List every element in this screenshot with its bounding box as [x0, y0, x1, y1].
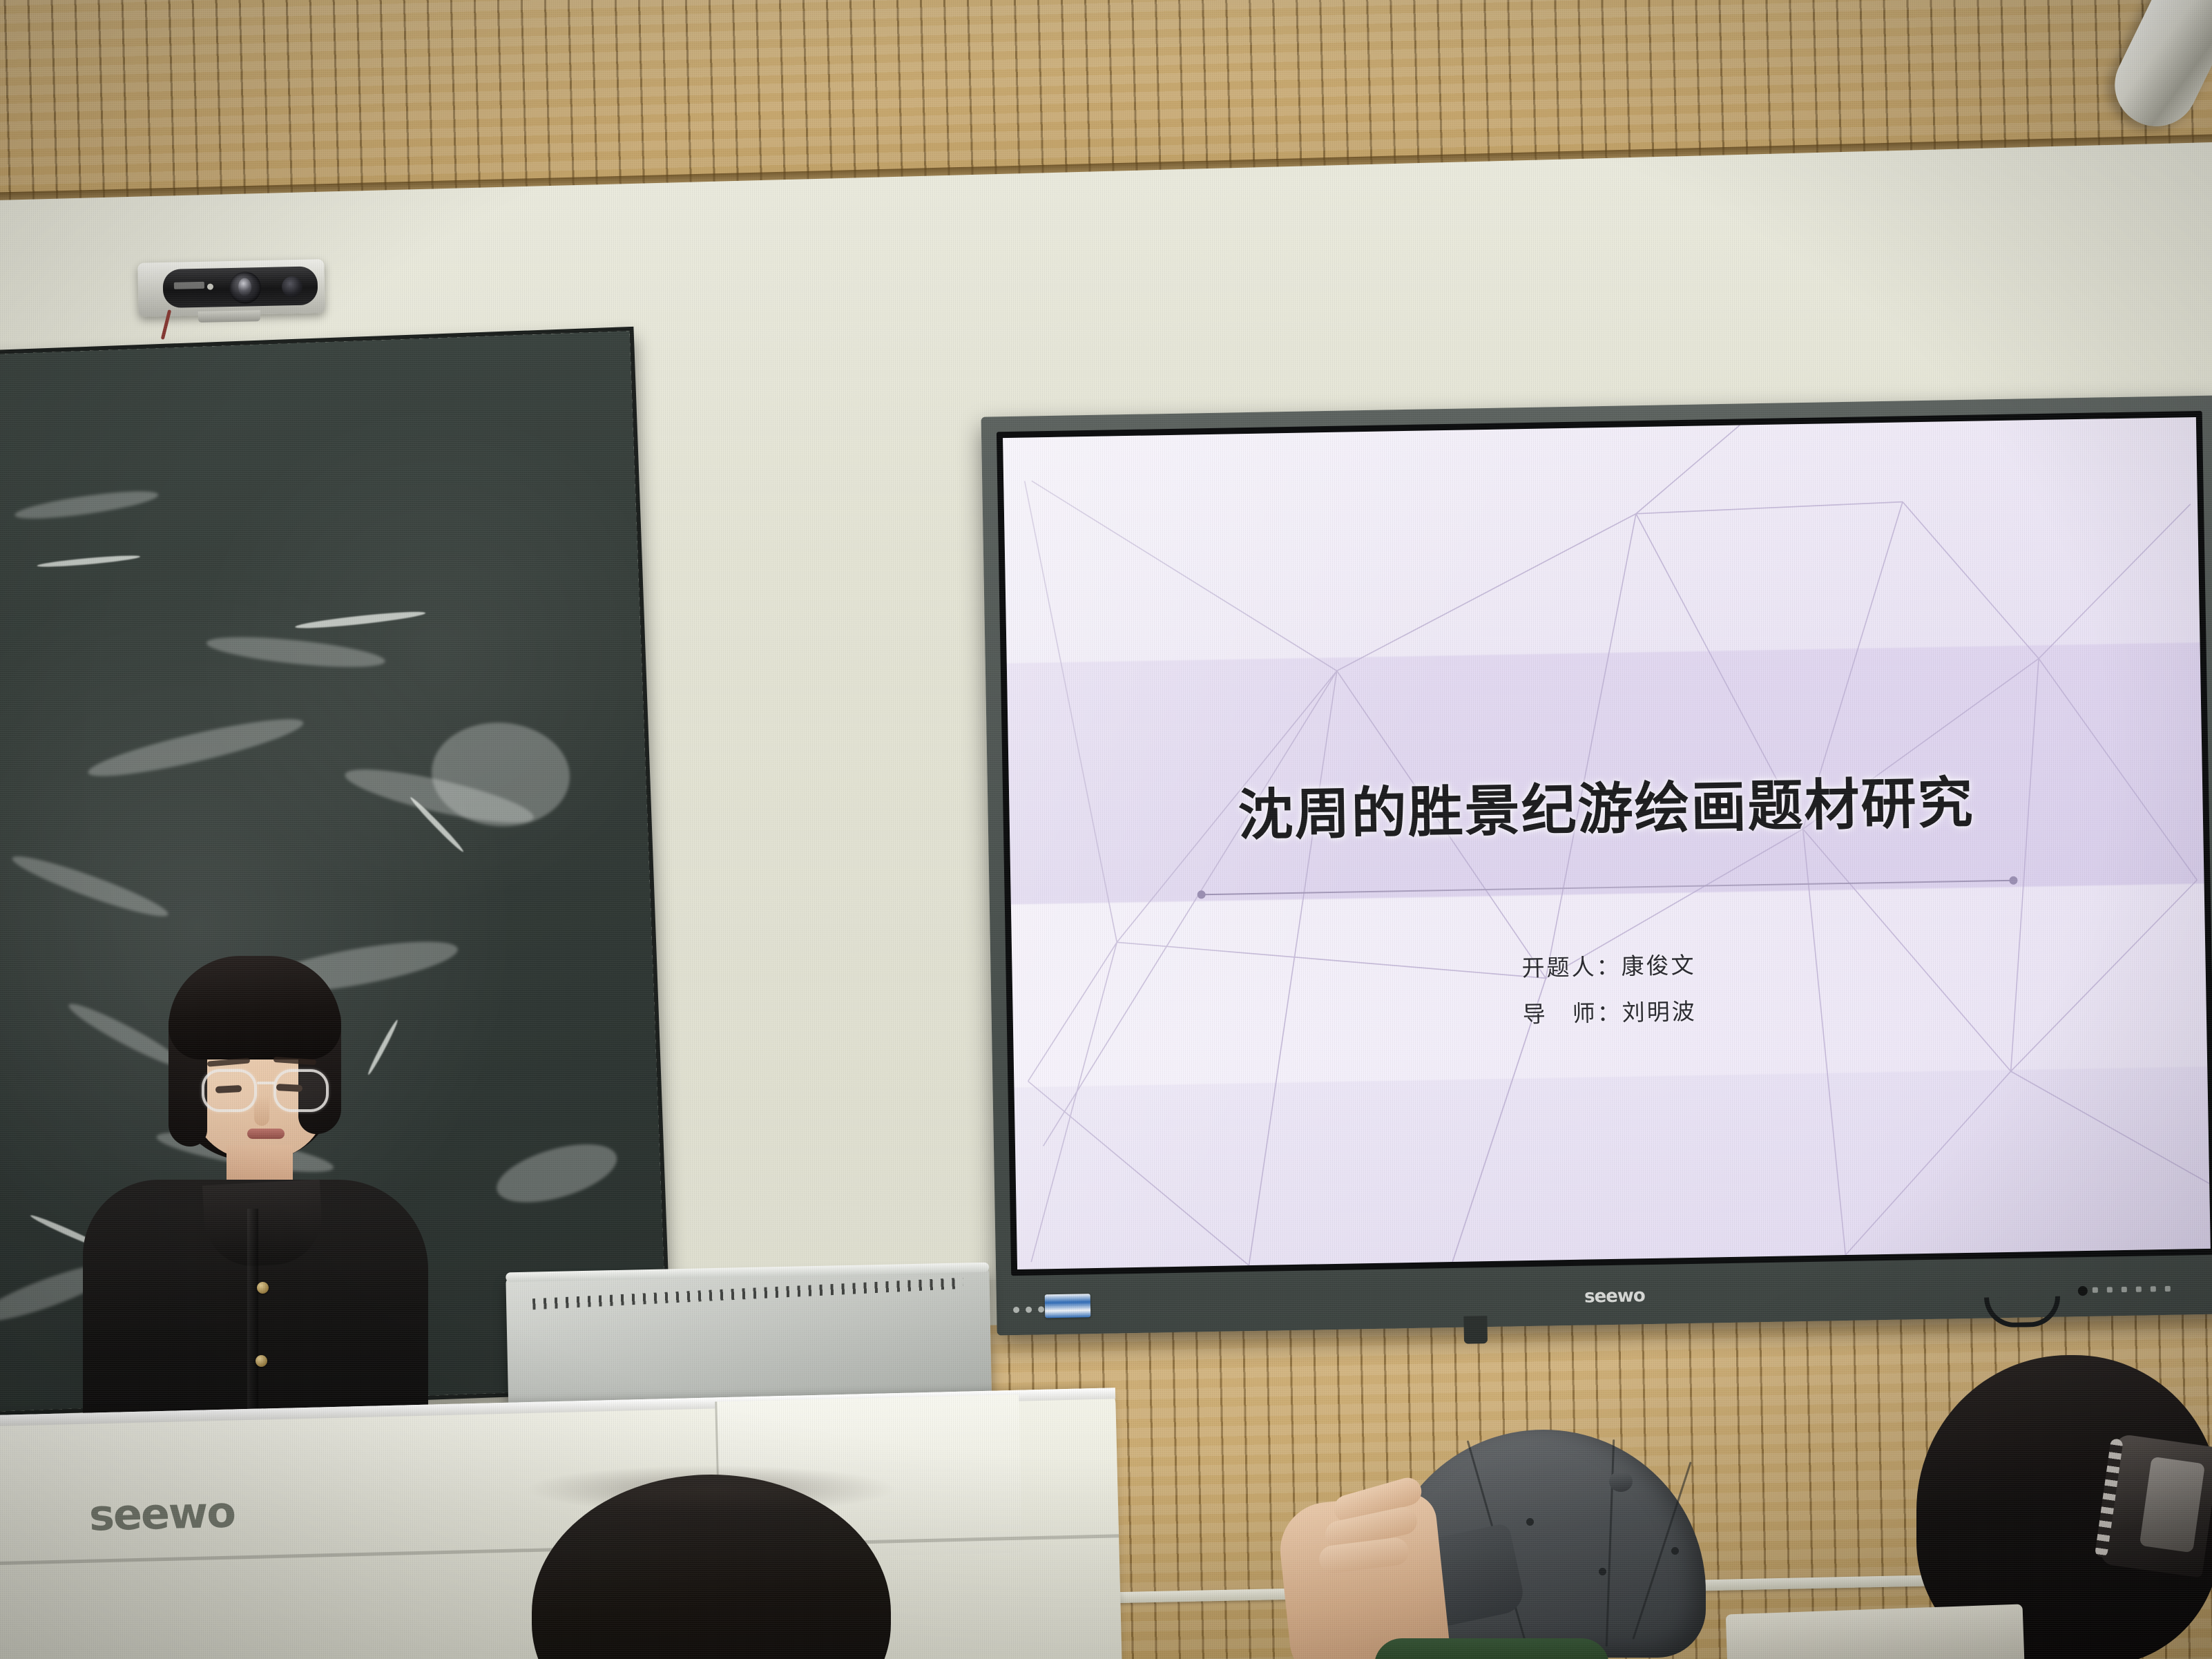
jacket-button [256, 1355, 267, 1367]
seat-back-edge [1726, 1604, 2025, 1659]
display-wall-mount [1463, 1316, 1488, 1344]
audience-shoulder [1374, 1638, 1609, 1659]
presenter-nose [254, 1095, 269, 1126]
display-control-buttons[interactable] [1013, 1306, 1044, 1313]
podium-brand-logo: seewo [88, 1487, 235, 1541]
display-brand-logo: seewo [1584, 1285, 1645, 1307]
audience-member-head [532, 1475, 891, 1659]
display-spec-sticker [1045, 1294, 1091, 1318]
display-ports[interactable] [2093, 1286, 2171, 1293]
presenter-mouth [247, 1129, 285, 1139]
conference-camera-icon [137, 259, 325, 317]
presenter-hair-front [169, 956, 341, 1059]
presentation-slide: 沈周的胜景纪游绘画题材研究 开题人：康俊文 导 师：刘明波 [1003, 417, 2211, 1269]
classroom-photo-scene: 沈周的胜景纪游绘画题材研究 开题人：康俊文 导 师：刘明波 seewo [0, 0, 2212, 1659]
hair-claw-clip [2099, 1433, 2212, 1578]
display-bezel: 沈周的胜景纪游绘画题材研究 开题人：康俊文 导 师：刘明波 [997, 411, 2212, 1276]
interactive-smart-display[interactable]: 沈周的胜景纪游绘画题材研究 开题人：康俊文 导 师：刘明波 seewo [981, 395, 2212, 1335]
display-ir-sensor [2078, 1286, 2088, 1296]
audience-member-with-cap [1291, 1395, 1761, 1659]
jacket-button [257, 1282, 269, 1294]
